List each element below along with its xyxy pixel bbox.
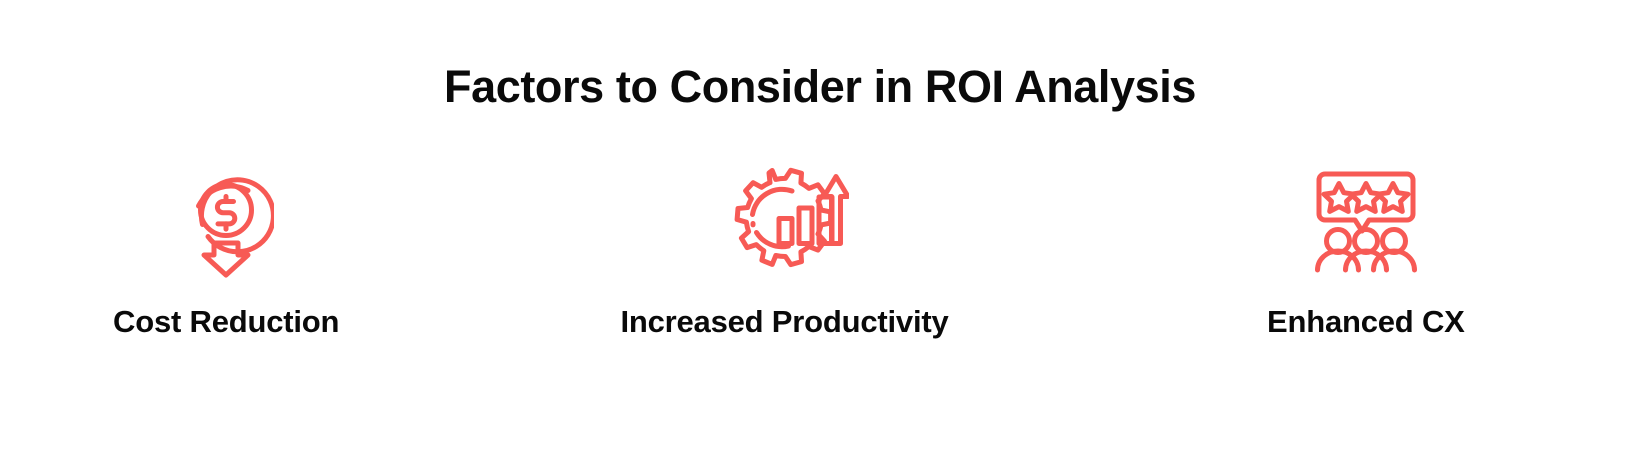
page-title: Factors to Consider in ROI Analysis — [0, 62, 1640, 112]
factor-item-enhanced-cx: Enhanced CX — [1092, 160, 1640, 340]
cost-reduction-glyph — [178, 162, 274, 280]
factor-label-cost-reduction: Cost Reduction — [113, 304, 339, 340]
factor-item-increased-productivity: Increased Productivity — [510, 160, 1058, 340]
increased-productivity-icon — [719, 160, 849, 282]
enhanced-cx-icon — [1311, 160, 1421, 282]
roi-factors-slide: Factors to Consider in ROI Analysis — [0, 0, 1640, 460]
enhanced-cx-glyph — [1311, 166, 1421, 276]
cost-reduction-icon — [178, 160, 274, 282]
factor-item-cost-reduction: Cost Reduction — [0, 160, 500, 340]
factors-row: Cost Reduction — [0, 160, 1640, 340]
factor-label-enhanced-cx: Enhanced CX — [1267, 304, 1465, 340]
factor-label-increased-productivity: Increased Productivity — [620, 304, 948, 340]
increased-productivity-glyph — [719, 162, 849, 280]
